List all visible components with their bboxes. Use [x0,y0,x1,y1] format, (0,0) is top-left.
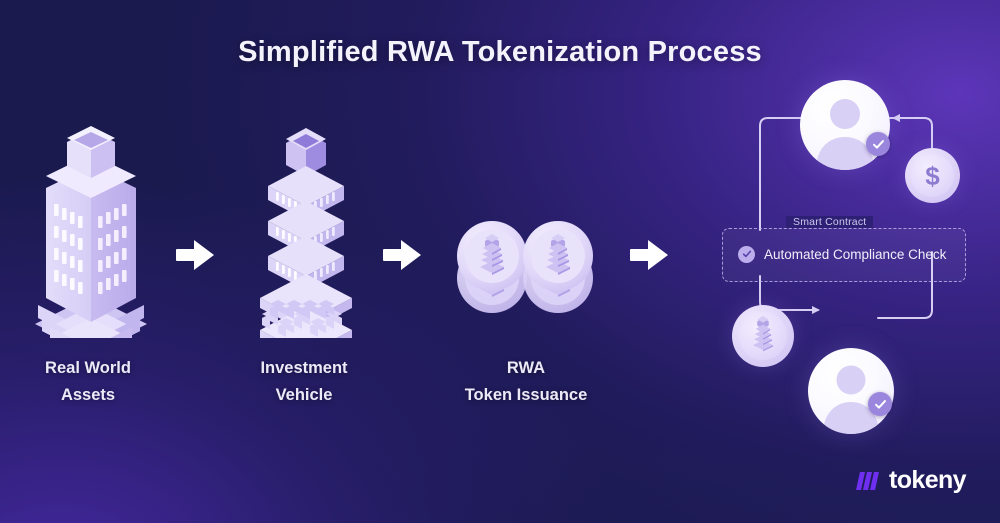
arrowhead-to-top-avatar [892,114,900,122]
step-label-line1: RWA [432,355,620,382]
token-coin-icon [748,315,778,357]
stacked-tower-icon [248,126,364,338]
step-label-line2: Vehicle [228,382,380,409]
user-avatar-icon [800,80,890,170]
user-avatar-icon [808,348,894,434]
step-label-investment-vehicle: Investment Vehicle [228,355,380,408]
page-title: Simplified RWA Tokenization Process [0,36,1000,69]
step-label-rwa-token-issuance: RWA Token Issuance [432,355,620,408]
building-icon [30,126,152,338]
arrow-head [401,240,421,270]
check-icon [874,398,887,411]
step-label-real-world-assets: Real World Assets [8,355,168,408]
automated-compliance-check-label: Automated Compliance Check [764,247,946,262]
automated-compliance-check-row: Automated Compliance Check [738,243,946,265]
tokeny-wordmark: tokeny [889,468,966,493]
smart-contract-legend: Smart Contract [786,216,873,228]
infographic-canvas: Simplified RWA Tokenization Process [0,0,1000,523]
tokeny-logo[interactable]: tokeny [856,468,966,493]
arrow-step-1-to-2 [176,240,214,270]
check-circle-icon [738,246,755,263]
tokeny-mark-icon [856,469,882,493]
check-icon [872,138,885,151]
cash-coin: $ [905,148,960,203]
step-label-line2: Assets [8,382,168,409]
token-coins-icon [448,212,604,322]
step-label-line2: Token Issuance [432,382,620,409]
token-coin [732,305,794,367]
investor-avatar-bottom [808,348,894,434]
arrow-step-3-to-4 [630,240,668,270]
verified-badge-bottom [868,392,892,416]
step-label-line1: Real World [8,355,168,382]
step-label-line1: Investment [228,355,380,382]
dollar-coin-icon: $ [925,163,939,189]
investor-avatar-top [800,80,890,170]
arrow-head [194,240,214,270]
arrow-step-2-to-3 [383,240,421,270]
arrow-head [648,240,668,270]
arrowhead-to-bottom-avatar [812,306,820,314]
verified-badge-top [866,132,890,156]
